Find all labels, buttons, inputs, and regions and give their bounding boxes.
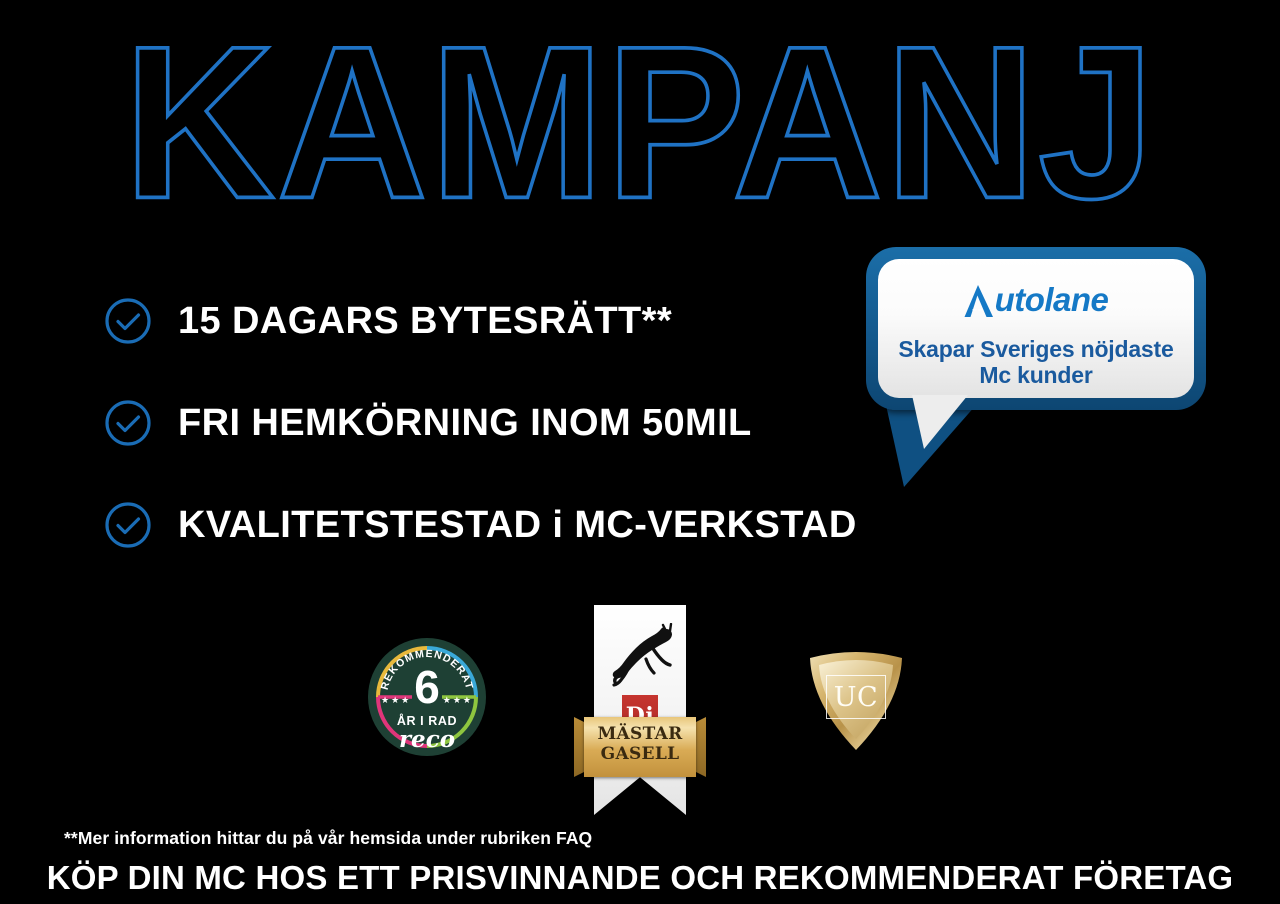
campaign-banner: KAMPANJ 15 DAGARS BYTESRÄTT** FRI HEMKÖR… — [0, 0, 1280, 904]
feature-list: 15 DAGARS BYTESRÄTT** FRI HEMKÖRNING INO… — [104, 292, 904, 598]
gasell-band-line-2: GASELL — [601, 744, 680, 764]
uc-badge: UC — [800, 642, 912, 754]
footnote-text: **Mer information hittar du på vår hemsi… — [64, 828, 592, 849]
reco-badge: REKOMMENDERAT ★★★ ★★★ 6 ÅR I RAD reco — [368, 638, 486, 756]
reco-year-number: 6 — [368, 664, 486, 710]
check-circle-icon — [104, 297, 152, 345]
list-item: FRI HEMKÖRNING INOM 50MIL — [104, 394, 904, 452]
slogan-line-2: Mc kunder — [979, 362, 1092, 388]
check-circle-icon — [104, 399, 152, 447]
gasell-band-text: MÄSTAR GASELL — [584, 724, 696, 764]
reco-brand-text: reco — [368, 728, 486, 751]
slogan-line-1: Skapar Sveriges nöjdaste — [898, 336, 1173, 362]
mastar-gasell-badge: Di MÄSTAR GASELL — [594, 605, 686, 815]
autolane-logo: utolane — [878, 283, 1194, 318]
uc-label-text: UC — [827, 676, 885, 720]
feature-label: FRI HEMKÖRNING INOM 50MIL — [178, 404, 752, 442]
testimonial-speech-bubble: utolane Skapar Sveriges nöjdaste Mc kund… — [866, 247, 1206, 492]
speech-bubble-body: utolane Skapar Sveriges nöjdaste Mc kund… — [878, 259, 1194, 398]
footer-tagline: KÖP DIN MC HOS ETT PRISVINNANDE OCH REKO… — [0, 860, 1280, 896]
speech-bubble-tail-fill — [912, 395, 968, 449]
autolane-logo-text: utolane — [995, 281, 1109, 318]
check-circle-icon — [104, 501, 152, 549]
award-badge-row: REKOMMENDERAT ★★★ ★★★ 6 ÅR I RAD reco Di — [0, 600, 1280, 820]
autolane-a-icon — [964, 284, 994, 318]
autolane-slogan: Skapar Sveriges nöjdaste Mc kunder — [878, 337, 1194, 389]
gasell-gold-band: MÄSTAR GASELL — [584, 717, 696, 777]
speech-bubble-frame: utolane Skapar Sveriges nöjdaste Mc kund… — [866, 247, 1206, 410]
list-item: KVALITETSTESTAD i MC-VERKSTAD — [104, 496, 904, 554]
leaping-gazelle-icon — [602, 623, 682, 703]
page-title: KAMPANJ — [0, 14, 1280, 231]
gasell-band-line-1: MÄSTAR — [597, 724, 682, 744]
feature-label: KVALITETSTESTAD i MC-VERKSTAD — [178, 506, 857, 544]
list-item: 15 DAGARS BYTESRÄTT** — [104, 292, 904, 350]
uc-label-box: UC — [826, 675, 886, 719]
feature-label: 15 DAGARS BYTESRÄTT** — [178, 302, 672, 340]
